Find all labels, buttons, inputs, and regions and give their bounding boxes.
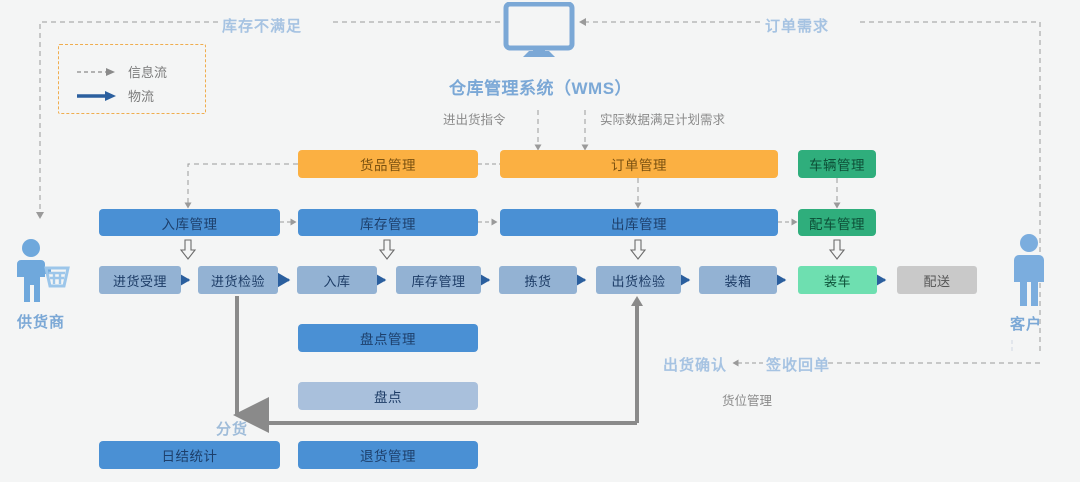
- module-inventory-count[interactable]: 盘点: [298, 382, 478, 410]
- wms-title: 仓库管理系统（WMS）: [449, 74, 632, 99]
- dashed-arrow-icon: [76, 66, 118, 78]
- module-inbound-management[interactable]: 入库管理: [99, 209, 280, 236]
- legend-label-logistics-flow: 物流: [128, 86, 154, 105]
- step-delivery[interactable]: 配送: [897, 266, 977, 294]
- label-stock-insufficient: 库存不满足: [222, 15, 302, 36]
- label-actual-data: 实际数据满足计划需求: [600, 109, 725, 128]
- legend-row-info-flow: 信息流: [76, 62, 167, 81]
- entity-supplier-label: 供货商: [8, 311, 74, 332]
- step-shipping-inspection[interactable]: 出货检验: [596, 266, 681, 294]
- label-distribute: 分货: [216, 418, 248, 439]
- legend-row-logistics-flow: 物流: [76, 86, 154, 105]
- label-receipt-signed: 签收回单: [766, 354, 830, 375]
- solid-arrow-icon: [76, 90, 118, 102]
- module-order-management[interactable]: 订单管理: [500, 150, 778, 178]
- module-stock-management[interactable]: 库存管理: [298, 209, 478, 236]
- label-order-demand: 订单需求: [765, 15, 829, 36]
- wms-flow-diagram: 信息流 物流 仓库管理系统（WMS） 库存不满足 订单需求 进出货指令 实际数据…: [0, 0, 1080, 482]
- module-returns-management[interactable]: 退货管理: [298, 441, 478, 469]
- entity-customer-label: 客户: [996, 313, 1056, 334]
- module-dispatch-management[interactable]: 配车管理: [798, 209, 876, 236]
- module-inventory-count-management[interactable]: 盘点管理: [298, 324, 478, 352]
- gray-arrow-head-up: [631, 296, 643, 306]
- label-in-out-command: 进出货指令: [443, 109, 506, 128]
- dashed-path-goods-to-inbound: [188, 164, 298, 208]
- module-goods-management[interactable]: 货品管理: [298, 150, 478, 178]
- customer-person-icon: [1007, 232, 1051, 308]
- hollow-arrow-group: [181, 240, 844, 259]
- label-location-mgmt: 货位管理: [722, 390, 772, 409]
- step-packing[interactable]: 装箱: [699, 266, 777, 294]
- legend-label-info-flow: 信息流: [128, 62, 167, 81]
- step-loading[interactable]: 装车: [798, 266, 877, 294]
- step-storage-in[interactable]: 入库: [297, 266, 377, 294]
- entity-supplier: 供货商: [8, 238, 74, 332]
- step-picking[interactable]: 拣货: [499, 266, 577, 294]
- step-goods-inspection[interactable]: 进货检验: [198, 266, 278, 294]
- step-stock-management[interactable]: 库存管理: [396, 266, 481, 294]
- module-daily-statistics[interactable]: 日结统计: [99, 441, 280, 469]
- module-outbound-management[interactable]: 出库管理: [500, 209, 778, 236]
- module-vehicle-management[interactable]: 车辆管理: [798, 150, 876, 178]
- supplier-person-basket-icon: [10, 238, 72, 308]
- step-goods-receipt[interactable]: 进货受理: [99, 266, 181, 294]
- entity-customer: 客户: [996, 232, 1056, 334]
- label-ship-confirm: 出货确认: [663, 354, 727, 375]
- wms-monitor-icon: [503, 2, 575, 63]
